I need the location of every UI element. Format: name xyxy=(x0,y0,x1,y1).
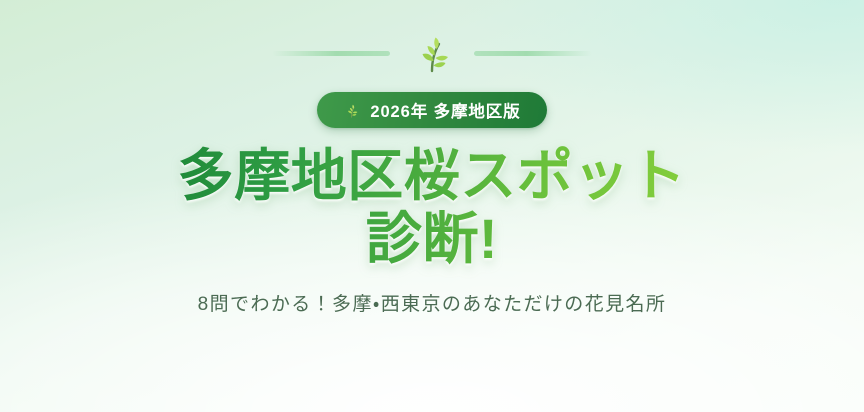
ornament-row xyxy=(272,26,592,80)
badge-herb-leaf-icon xyxy=(343,102,360,119)
page-subtitle: 8問でわかる！多摩・西東京のあなただけの花見名所 xyxy=(198,289,667,316)
ornament-line-left xyxy=(272,51,390,56)
page-title: 多摩地区桜スポット 診断! xyxy=(178,144,687,271)
hero-section: 2026年 多摩地区版 多摩地区桜スポット 診断! 8問でわかる！多摩・西東京の… xyxy=(0,0,864,412)
edition-badge-label: 2026年 多摩地区版 xyxy=(370,98,520,122)
edition-badge: 2026年 多摩地区版 xyxy=(317,92,546,128)
ornament-line-right xyxy=(474,51,592,56)
herb-leaf-icon xyxy=(404,26,460,80)
